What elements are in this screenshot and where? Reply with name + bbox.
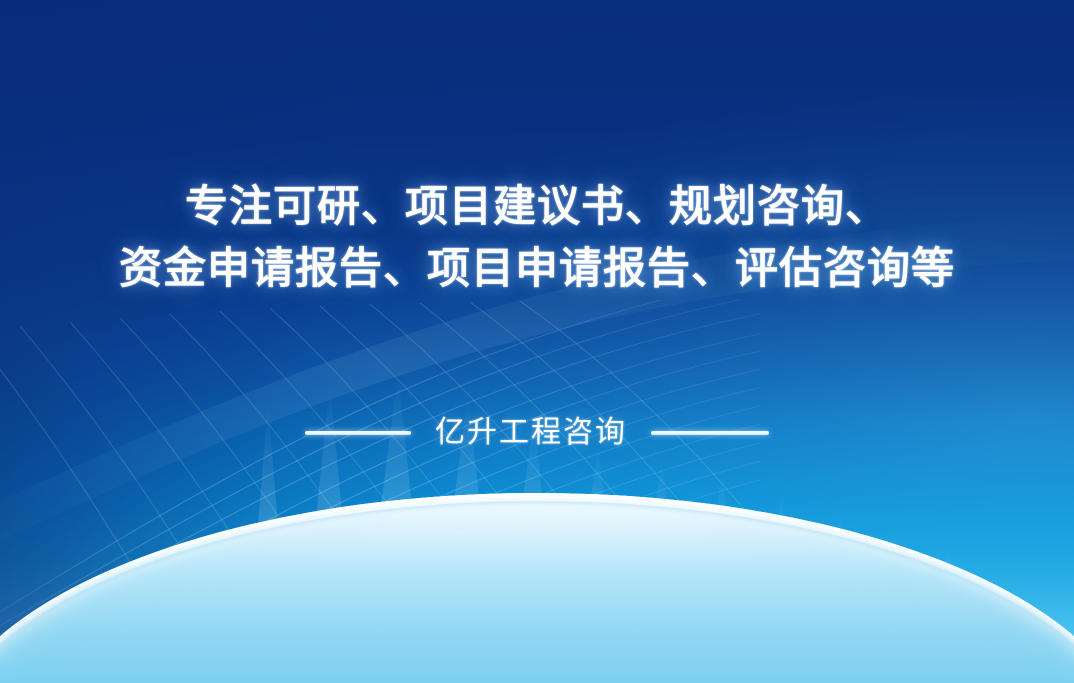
- page-title: 专注可研、项目建议书、规划咨询、 资金申请报告、项目申请报告、评估咨询等: [0, 176, 1074, 300]
- subtitle-row: 亿升工程咨询: [0, 411, 1074, 455]
- globe-graphic: [0, 423, 1074, 683]
- decorative-rule-right: [651, 431, 769, 435]
- headline-line-2: 资金申请报告、项目申请报告、评估咨询等: [0, 238, 1074, 300]
- decorative-rule-left: [305, 431, 411, 435]
- company-name: 亿升工程咨询: [435, 411, 627, 455]
- promo-banner: 专注可研、项目建议书、规划咨询、 资金申请报告、项目申请报告、评估咨询等 亿升工…: [0, 0, 1074, 683]
- headline-line-1: 专注可研、项目建议书、规划咨询、: [0, 176, 1074, 238]
